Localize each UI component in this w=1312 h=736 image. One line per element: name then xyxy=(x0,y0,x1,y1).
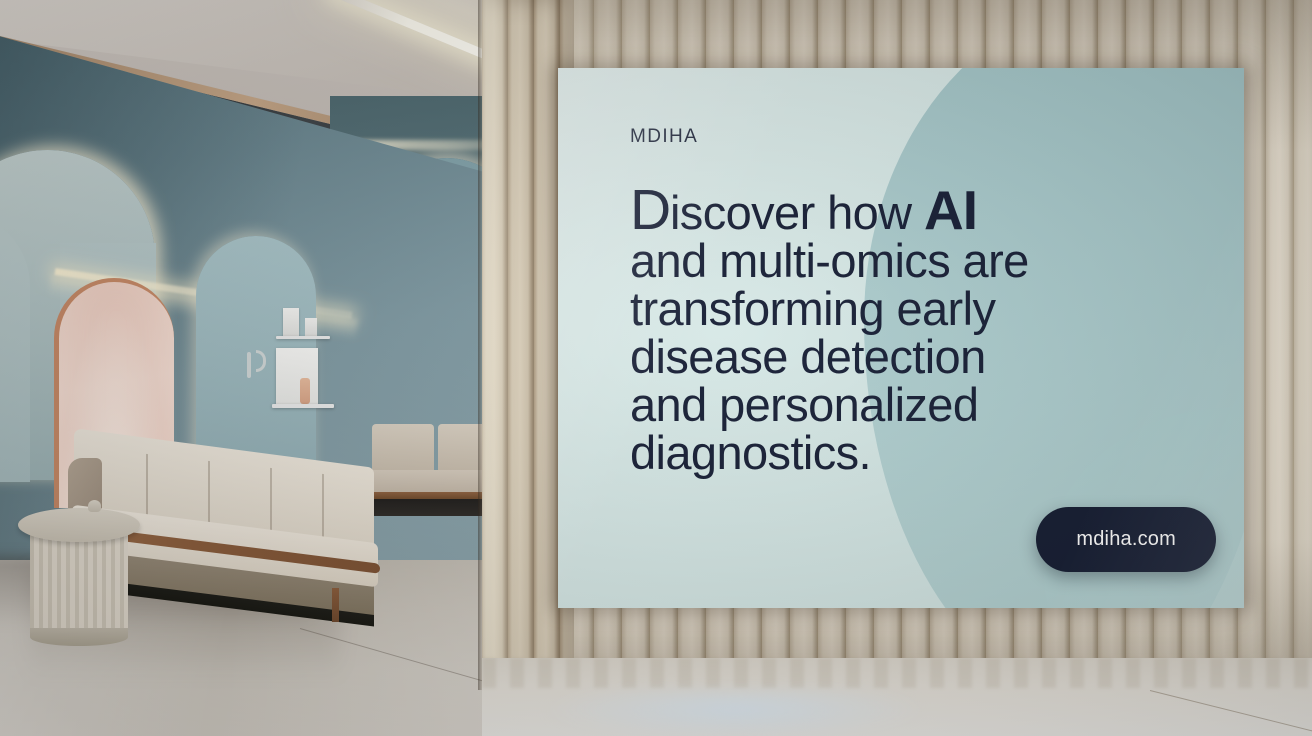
fluted-side-table-top xyxy=(18,508,140,542)
wall-hook-icon xyxy=(247,352,251,378)
headline-line-6: diagnostics. xyxy=(630,426,871,479)
shelf-poster-frame xyxy=(276,348,318,405)
sofa-leg xyxy=(332,588,339,622)
room-corner-edge xyxy=(478,0,483,690)
foreground-floor-slat-reflection xyxy=(482,658,1312,688)
poster-url-pill[interactable]: mdiha.com xyxy=(1036,507,1216,572)
headline-line1-rest: iscover how xyxy=(670,186,924,239)
wall-poster[interactable]: MDIHA Discover how AI and multi-omics ar… xyxy=(558,68,1244,608)
shelf-object-frame xyxy=(283,308,299,337)
fluted-side-table-base xyxy=(30,628,128,646)
headline-line-2: and multi-omics are xyxy=(630,234,1029,287)
headline-line-4: disease detection xyxy=(630,330,986,383)
side-table-knob-icon xyxy=(88,500,101,512)
headline-line-5: and personalized xyxy=(630,378,978,431)
waiting-room xyxy=(0,0,500,736)
poster-brand-wordmark: MDIHA xyxy=(630,126,1244,148)
upper-wall-shelf xyxy=(276,336,330,339)
lower-wall-shelf xyxy=(272,404,334,408)
headline-emphasis-ai: AI xyxy=(924,179,977,241)
shelf-vase-icon xyxy=(300,378,310,404)
screenshot-root: MDIHA Discover how AI and multi-omics ar… xyxy=(0,0,1312,736)
slat-wall-pillar-highlight xyxy=(482,0,518,690)
foreground-floor-light-pool xyxy=(545,690,925,736)
shelf-object-book xyxy=(305,318,317,337)
headline-line-3: transforming early xyxy=(630,282,995,335)
headline-drop-cap: D xyxy=(630,178,670,242)
poster-headline: Discover how AI and multi-omics are tran… xyxy=(630,186,1100,477)
